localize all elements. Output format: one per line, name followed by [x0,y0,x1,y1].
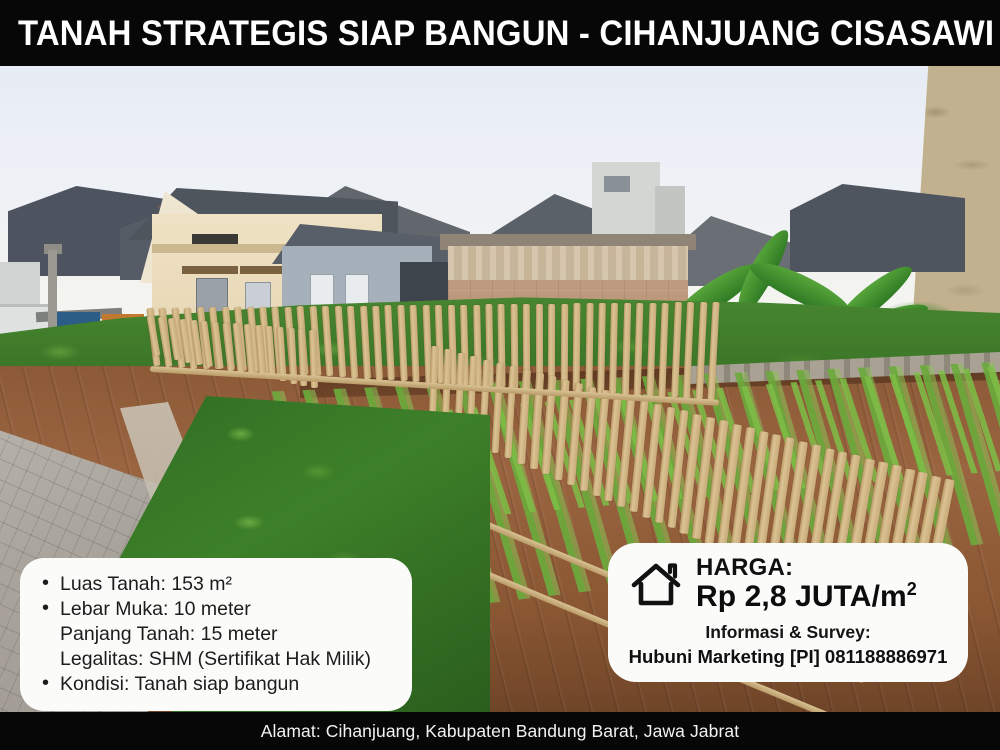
bamboo-stake [560,304,568,391]
contact-detail[interactable]: Hubuni Marketing [PI] 081188886971 [622,646,954,668]
spec-item: Panjang Tanah: 15 meter [38,622,396,647]
bamboo-stake [504,366,517,458]
house-icon [630,561,682,607]
bamboo-stake [211,321,224,369]
bamboo-stake [322,306,334,377]
bamboo-stake [707,302,719,400]
spec-item: Luas Tanah: 153 m² [38,572,396,597]
price-value-text: Rp 2,8 JUTA/m [696,580,907,613]
bamboo-stake [334,306,346,378]
price-label: HARGA: [696,555,917,580]
bamboo-stake [359,306,370,379]
price-value: Rp 2,8 JUTA/m2 [696,580,917,613]
bamboo-stake [634,303,644,396]
bamboo-stake [609,303,618,394]
bamboo-stake [372,305,383,379]
bamboo-stake [529,373,543,469]
contact-block: Informasi & Survey: Hubuni Marketing [PI… [622,622,954,668]
price-header-row: HARGA: Rp 2,8 JUTA/m2 [622,555,954,613]
bamboo-stake [585,303,593,392]
contact-heading: Informasi & Survey: [622,622,954,643]
bamboo-stake [683,302,694,398]
page-title: TANAH STRATEGIS SIAP BANGUN - CIHANJUANG… [18,16,994,51]
price-text-block: HARGA: Rp 2,8 JUTA/m2 [696,555,917,613]
bamboo-stake [573,303,581,391]
bamboo-stake [347,306,358,379]
bamboo-stake [385,305,396,380]
specifications-card: Luas Tanah: 153 m²Lebar Muka: 10 meterPa… [20,558,412,711]
address-text: Alamat: Cihanjuang, Kabupaten Bandung Ba… [261,721,739,742]
spec-item: Lebar Muka: 10 meter [38,597,396,622]
header-bar: TANAH STRATEGIS SIAP BANGUN - CIHANJUANG… [0,0,1000,66]
bamboo-stake [397,305,407,381]
bamboo-stake [622,303,631,395]
bamboo-stake [597,303,606,393]
bamboo-stake [646,303,656,397]
price-value-superscript: 2 [907,579,917,599]
bamboo-stake [410,305,420,382]
spec-item: Kondisi: Tanah siap bangun [38,672,396,697]
property-listing-poster: TANAH STRATEGIS SIAP BANGUN - CIHANJUANG… [0,0,1000,750]
bamboo-stake [658,302,668,397]
bamboo-stake [695,302,707,399]
price-card: HARGA: Rp 2,8 JUTA/m2 Informasi & Survey… [608,543,968,682]
spec-item: Legalitas: SHM (Sertifikat Hak Milik) [38,647,396,672]
bamboo-stake [517,370,530,464]
footer-bar: Alamat: Cihanjuang, Kabupaten Bandung Ba… [0,712,1000,750]
specifications-list: Luas Tanah: 153 m²Lebar Muka: 10 meterPa… [38,572,396,697]
bamboo-stake [671,302,682,398]
